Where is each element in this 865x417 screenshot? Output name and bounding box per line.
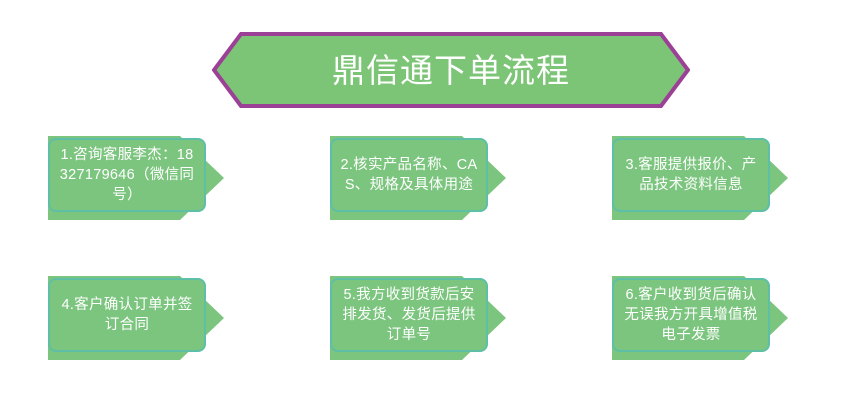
process-step-4[interactable]: 4.客户确认订单并签订合同 bbox=[48, 276, 228, 360]
process-step-6[interactable]: 6.客户收到货后确认无误我方开具增值税电子发票 bbox=[612, 276, 792, 360]
step-box: 2.核实产品名称、CAS、规格及具体用途 bbox=[330, 138, 488, 212]
step-label: 6.客户收到货后确认无误我方开具增值税电子发票 bbox=[621, 285, 761, 345]
step-box: 6.客户收到货后确认无误我方开具增值税电子发票 bbox=[612, 278, 770, 352]
step-label: 5.我方收到货款后安排发货、发货后提供订单号 bbox=[339, 285, 479, 345]
step-box: 1.咨询客服李杰：18327179646（微信同号） bbox=[48, 138, 206, 212]
process-step-2[interactable]: 2.核实产品名称、CAS、规格及具体用途 bbox=[330, 136, 510, 220]
step-box: 4.客户确认订单并签订合同 bbox=[48, 278, 206, 352]
step-label: 4.客户确认订单并签订合同 bbox=[57, 295, 197, 335]
page-title: 鼎信通下单流程 bbox=[212, 32, 690, 108]
process-step-5[interactable]: 5.我方收到货款后安排发货、发货后提供订单号 bbox=[330, 276, 510, 360]
process-step-1[interactable]: 1.咨询客服李杰：18327179646（微信同号） bbox=[48, 136, 228, 220]
step-box: 3.客服提供报价、产品技术资料信息 bbox=[612, 138, 770, 212]
process-step-3[interactable]: 3.客服提供报价、产品技术资料信息 bbox=[612, 136, 792, 220]
step-label: 1.咨询客服李杰：18327179646（微信同号） bbox=[57, 145, 197, 205]
step-label: 3.客服提供报价、产品技术资料信息 bbox=[621, 155, 761, 195]
step-label: 2.核实产品名称、CAS、规格及具体用途 bbox=[339, 155, 479, 195]
flowchart-title-banner: 鼎信通下单流程 bbox=[212, 32, 690, 108]
step-box: 5.我方收到货款后安排发货、发货后提供订单号 bbox=[330, 278, 488, 352]
